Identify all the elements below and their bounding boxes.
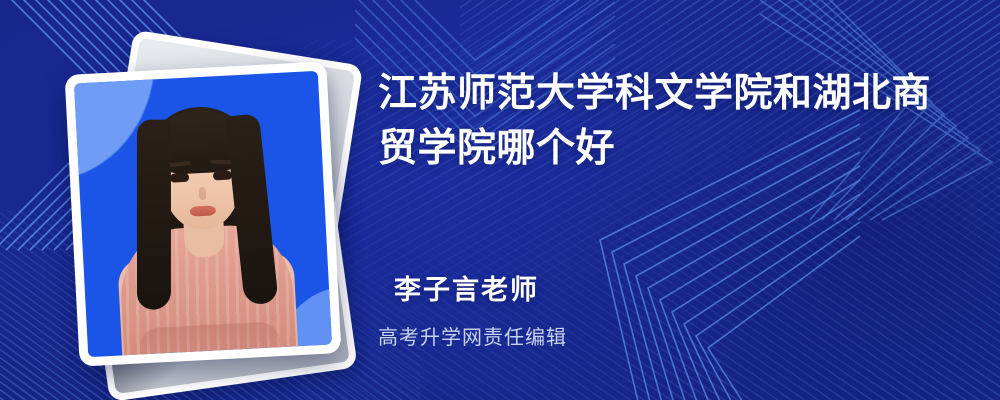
author-portrait-photo — [74, 71, 332, 357]
author-name: 李子言老师 — [394, 268, 567, 307]
photo-card-stack — [48, 40, 378, 370]
eyebrow-right — [210, 160, 231, 165]
portrait-subject — [74, 71, 332, 357]
nose — [199, 187, 207, 200]
author-role: 高考升学网责任编辑 — [378, 321, 567, 350]
hair-side-left — [137, 120, 171, 310]
eye-right — [213, 170, 232, 180]
photo-card-main — [65, 61, 342, 366]
author-byline: 李子言老师 高考升学网责任编辑 — [378, 268, 567, 350]
article-title: 江苏师范大学科文学院和湖北商贸学院哪个好 — [378, 66, 964, 177]
article-header-banner: 江苏师范大学科文学院和湖北商贸学院哪个好 李子言老师 高考升学网责任编辑 — [0, 0, 1000, 400]
banner-text-content: 江苏师范大学科文学院和湖北商贸学院哪个好 李子言老师 高考升学网责任编辑 — [372, 0, 982, 400]
eye-left — [170, 173, 189, 183]
